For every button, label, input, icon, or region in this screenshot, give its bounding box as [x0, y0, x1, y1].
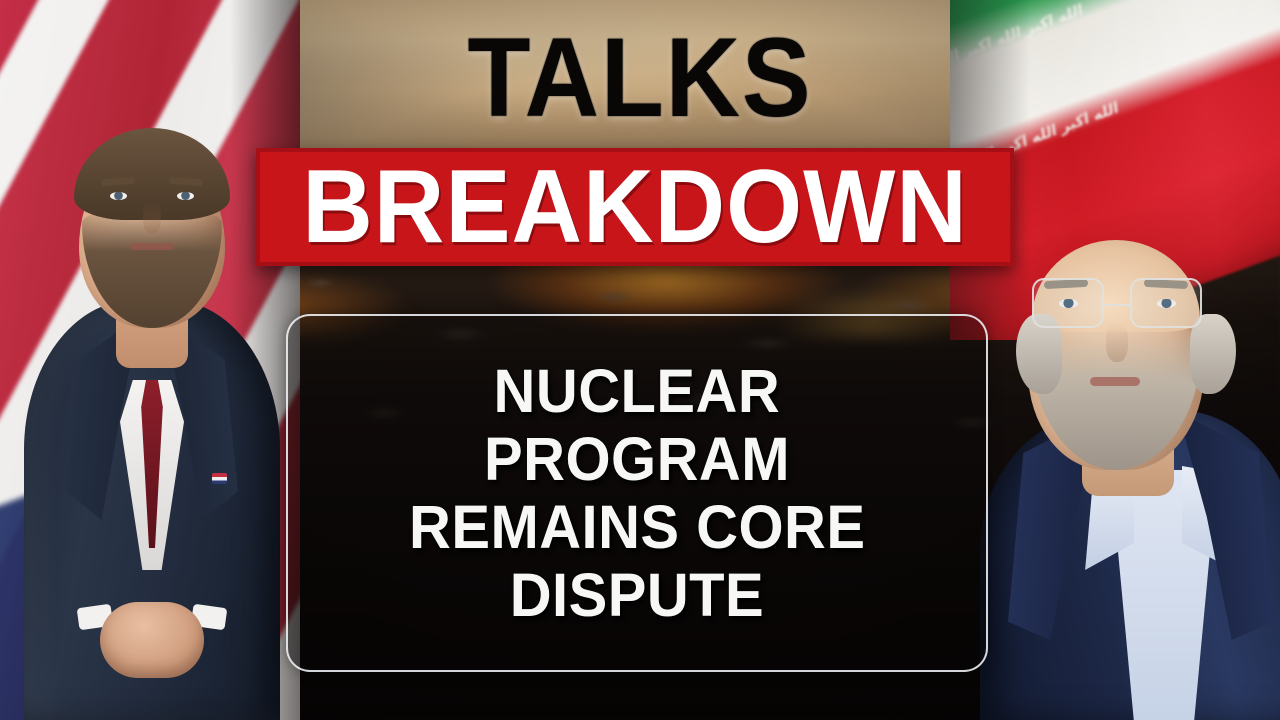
- glasses-lens-left-icon: [1032, 278, 1104, 328]
- glasses-bridge-icon: [1102, 304, 1132, 307]
- subtitle-box: NUCLEAR PROGRAM REMAINS CORE DISPUTE: [286, 314, 988, 672]
- glasses-lens-right-icon: [1130, 278, 1202, 328]
- ghalibaf-nose: [1106, 322, 1128, 362]
- subtitle-line-1: NUCLEAR: [494, 357, 781, 425]
- ghalibaf-mouth: [1090, 377, 1140, 386]
- vance-nose: [143, 201, 161, 233]
- subtitle-line-3: REMAINS CORE: [409, 493, 865, 561]
- vance-eye-right: [177, 192, 194, 200]
- subtitle-line-2: PROGRAM: [484, 425, 790, 493]
- vance-hands: [100, 602, 204, 678]
- headline-secondary: BREAKDOWN: [302, 155, 968, 259]
- vance-mouth: [130, 243, 174, 250]
- headline-primary: TALKS: [51, 22, 1229, 134]
- vance-eye-left: [110, 192, 127, 200]
- subtitle-line-4: DISPUTE: [510, 561, 764, 629]
- ghalibaf-portrait: [980, 120, 1280, 720]
- ghalibaf-hair-right: [1190, 314, 1236, 394]
- headline-banner: BREAKDOWN: [256, 148, 1014, 266]
- us-flag-pin-icon: [212, 473, 227, 484]
- thumbnail-canvas: الله اكبر الله اكبر الله اكبر الله اكبر …: [0, 0, 1280, 720]
